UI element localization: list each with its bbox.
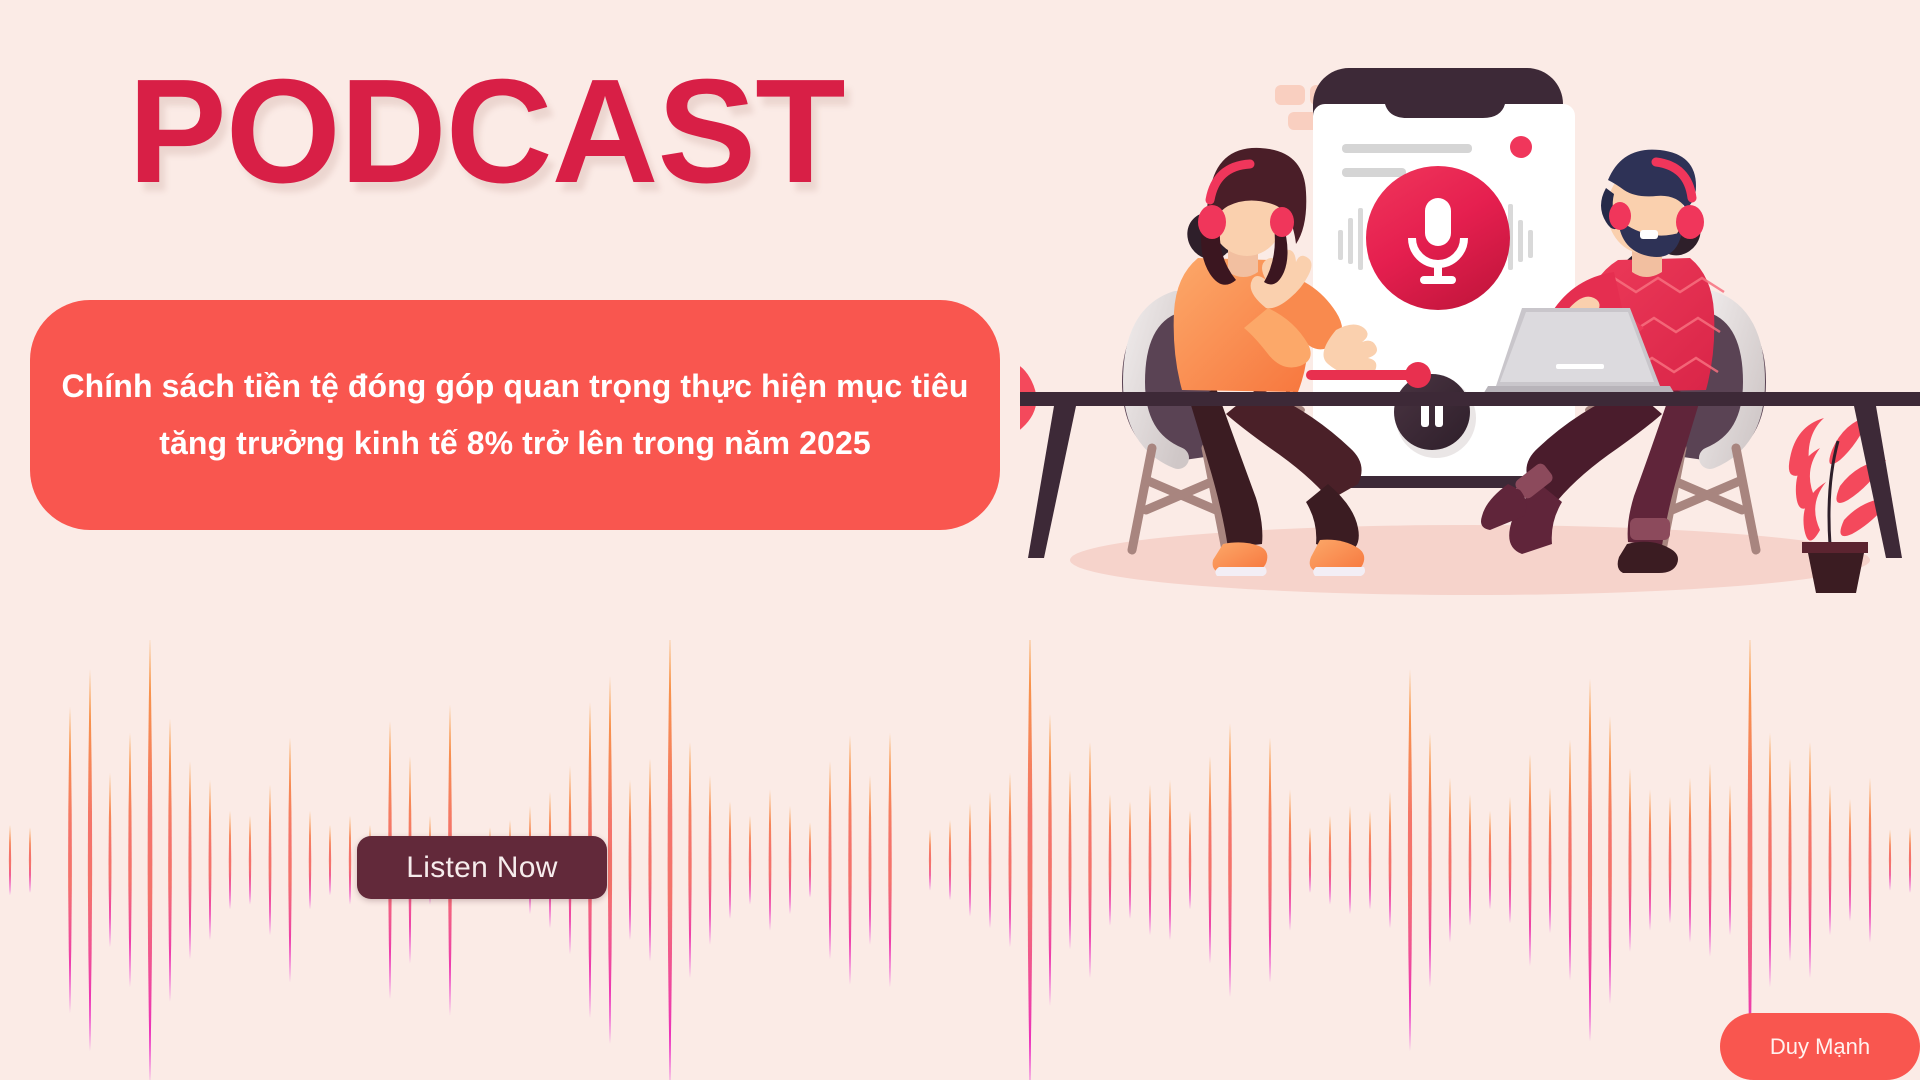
- phone-mockup: [1313, 68, 1575, 488]
- waveform-bar: [229, 811, 231, 910]
- waveform-bar: [888, 733, 891, 988]
- waveform-bar: [1009, 773, 1012, 947]
- waveform-bar: [1109, 794, 1112, 926]
- author-badge: Duy Mạnh: [1720, 1013, 1920, 1080]
- waveform-bar: [1208, 756, 1211, 963]
- waveform-bar: [1069, 770, 1072, 949]
- waveform-bar: [88, 669, 92, 1051]
- waveform-bar: [329, 825, 331, 895]
- waveform-bar: [809, 822, 811, 897]
- waveform-bar: [1129, 801, 1132, 919]
- waveform-bar: [1869, 778, 1872, 943]
- headline-line-2: tăng trưởng kinh tế 8% trở lên trong năm…: [159, 425, 871, 462]
- waveform-bar: [188, 761, 191, 959]
- waveform-bar: [1048, 714, 1052, 1006]
- waveform-bar: [68, 707, 72, 1013]
- waveform-bar: [1708, 763, 1711, 956]
- waveform-bar: [789, 806, 792, 914]
- waveform-bar: [1028, 640, 1033, 1080]
- page-title: PODCAST: [128, 58, 845, 206]
- waveform-bar: [209, 780, 212, 940]
- waveform-bar: [688, 742, 691, 978]
- waveform-bar: [929, 829, 931, 890]
- waveform-bar: [608, 676, 612, 1044]
- waveform-bar: [1389, 792, 1392, 929]
- plant-left: [1020, 359, 1036, 526]
- waveform-bar: [1669, 796, 1672, 923]
- waveform-bar: [1149, 785, 1152, 936]
- waveform-bar: [848, 735, 851, 985]
- waveform-bar: [1909, 827, 1911, 893]
- waveform-bar: [128, 733, 131, 988]
- waveform-bar: [29, 827, 31, 893]
- waveform-bar: [1889, 829, 1891, 890]
- waveform-bar: [1649, 789, 1652, 930]
- waveform-bar: [1309, 827, 1311, 893]
- waveform-bar: [1568, 740, 1571, 980]
- waveform-bar: [1588, 678, 1592, 1041]
- placeholder-bar-long: [1342, 144, 1472, 153]
- waveform-bar: [1469, 794, 1472, 926]
- audio-waveform: [0, 640, 1920, 1080]
- waveform-bar: [668, 640, 673, 1080]
- waveform-bar: [1788, 759, 1791, 962]
- waveform-bar: [1768, 733, 1771, 988]
- waveform-bar: [1829, 785, 1832, 936]
- waveform-bar: [1449, 778, 1452, 943]
- waveform-bar: [1349, 806, 1352, 914]
- waveform-bar: [1489, 811, 1491, 910]
- waveform-bar: [9, 825, 11, 895]
- waveform-bar: [1689, 778, 1692, 943]
- waveform-bar: [828, 761, 831, 959]
- waveform-bar: [309, 811, 311, 910]
- pause-button: [1394, 374, 1470, 450]
- podcast-banner-page: PODCAST Chính sách tiền tệ đóng góp quan…: [0, 0, 1920, 1080]
- waveform-bar: [709, 775, 712, 945]
- waveform-bar: [949, 820, 951, 900]
- waveform-bar: [729, 801, 732, 919]
- waveform-bar: [1808, 742, 1811, 978]
- waveform-bar: [1549, 787, 1552, 933]
- waveform-bar: [1729, 785, 1732, 936]
- waveform-bar: [1289, 789, 1292, 930]
- waveform-bar: [1228, 723, 1232, 996]
- waveform-bar: [109, 773, 112, 947]
- waveform-bar: [1509, 796, 1512, 923]
- waveform-bar: [1629, 768, 1632, 952]
- waveform-bar: [1189, 811, 1191, 910]
- listen-now-button[interactable]: Listen Now: [357, 836, 607, 899]
- waveform-bar: [1608, 716, 1612, 1004]
- waveform-bar: [1169, 780, 1172, 940]
- waveform-bar: [629, 780, 632, 940]
- waveform-bar: [749, 815, 751, 904]
- waveform-bar: [869, 775, 872, 945]
- waveform-bar: [1849, 799, 1852, 921]
- waveform-bar: [1088, 742, 1091, 978]
- waveform-bar: [1329, 815, 1331, 904]
- waveform-bar: [969, 804, 972, 917]
- waveform-bar: [1268, 737, 1271, 982]
- waveform-bar: [168, 719, 172, 1002]
- headline-banner: Chính sách tiền tệ đóng góp quan trọng t…: [30, 300, 1000, 530]
- headline-line-1: Chính sách tiền tệ đóng góp quan trọng t…: [61, 368, 968, 405]
- waveform-bar: [769, 789, 772, 930]
- waveform-bar: [269, 785, 272, 936]
- waveform-bar: [989, 792, 992, 929]
- waveform-bar: [1369, 811, 1371, 910]
- waveform-bar: [349, 815, 351, 904]
- waveform-bar: [1528, 754, 1531, 966]
- waveform-bar: [1408, 669, 1412, 1051]
- waveform-bar: [1428, 733, 1431, 988]
- waveform-bar: [648, 759, 651, 962]
- placeholder-bar-short: [1342, 168, 1406, 177]
- podcast-studio-illustration: [1020, 40, 1920, 660]
- waveform-bar: [249, 815, 251, 904]
- waveform-bar: [288, 737, 291, 982]
- record-dot: [1510, 136, 1532, 158]
- waveform-bar: [148, 640, 153, 1080]
